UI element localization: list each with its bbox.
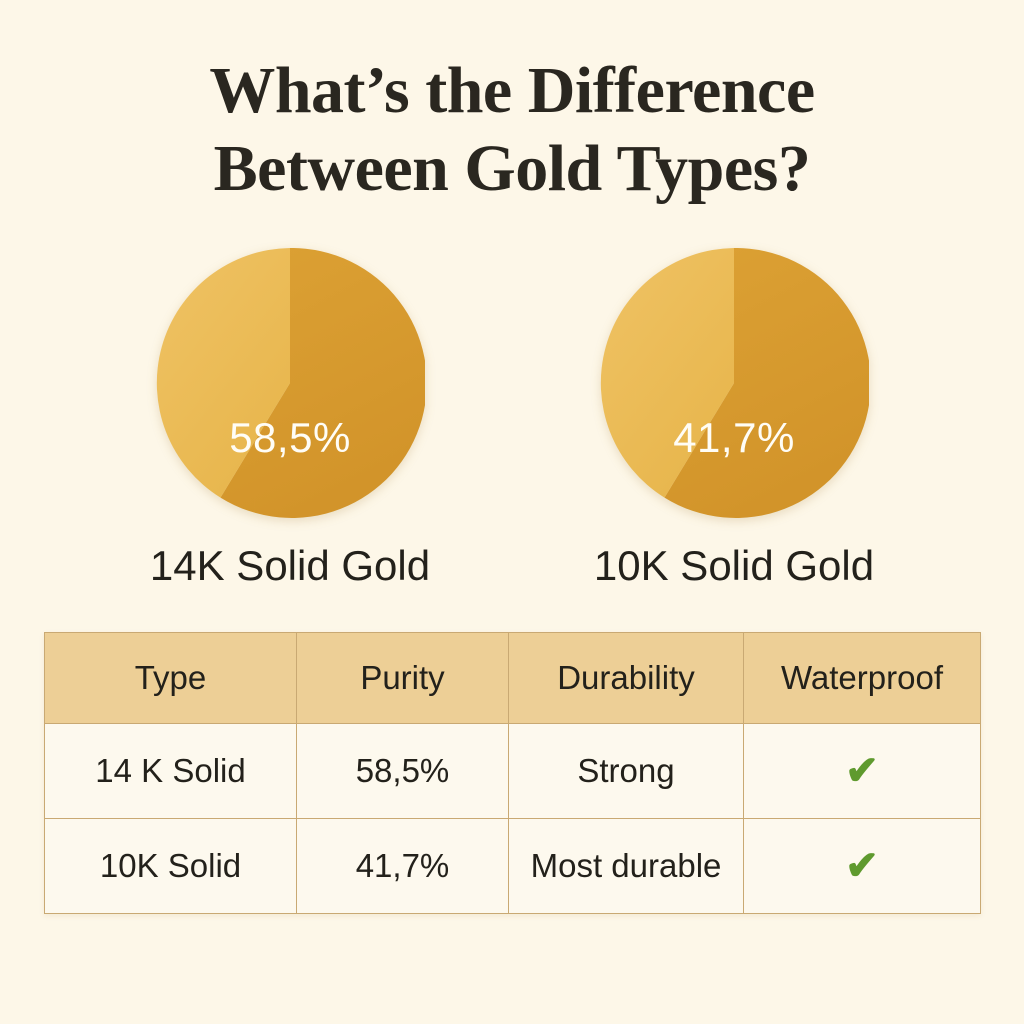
cell-durability: Most durable xyxy=(509,819,744,914)
cell-type: 14 K Solid xyxy=(45,724,297,819)
pie-value-label-10k: 41,7% xyxy=(599,414,869,462)
pie-caption-14k: 14K Solid Gold xyxy=(150,542,430,590)
cell-waterproof: ✔ xyxy=(744,724,981,819)
cell-type: 10K Solid xyxy=(45,819,297,914)
column-header-waterproof: Waterproof xyxy=(744,633,981,724)
pie-chart-10k: 41,7% xyxy=(599,248,869,518)
pie-chart-10k-svg xyxy=(599,248,869,518)
cell-purity: 41,7% xyxy=(297,819,509,914)
cell-durability: Strong xyxy=(509,724,744,819)
pie-caption-10k: 10K Solid Gold xyxy=(594,542,874,590)
table-header: Type Purity Durability Waterproof xyxy=(45,633,981,724)
table-row: 10K Solid 41,7% Most durable ✔ xyxy=(45,819,981,914)
pie-chart-unit-10k: 41,7% 10K Solid Gold xyxy=(596,248,872,590)
pie-chart-unit-14k: 58,5% 14K Solid Gold xyxy=(152,248,428,590)
gold-comparison-table: Type Purity Durability Waterproof 14 K S… xyxy=(44,632,981,914)
page-title-line-1: What’s the Difference xyxy=(0,52,1024,130)
column-header-type: Type xyxy=(45,633,297,724)
table-header-row: Type Purity Durability Waterproof xyxy=(45,633,981,724)
table-row: 14 K Solid 58,5% Strong ✔ xyxy=(45,724,981,819)
pie-value-label-14k: 58,5% xyxy=(155,414,425,462)
page-title: What’s the Difference Between Gold Types… xyxy=(0,52,1024,208)
cell-waterproof: ✔ xyxy=(744,819,981,914)
table-body: 14 K Solid 58,5% Strong ✔ 10K Solid 41,7… xyxy=(45,724,981,914)
column-header-purity: Purity xyxy=(297,633,509,724)
page-title-line-2: Between Gold Types? xyxy=(0,130,1024,208)
pie-chart-group: 58,5% 14K Solid Gold 41,7% xyxy=(0,248,1024,590)
check-icon: ✔ xyxy=(845,751,879,791)
pie-chart-14k: 58,5% xyxy=(155,248,425,518)
column-header-durability: Durability xyxy=(509,633,744,724)
check-icon: ✔ xyxy=(845,846,879,886)
pie-chart-14k-svg xyxy=(155,248,425,518)
cell-purity: 58,5% xyxy=(297,724,509,819)
